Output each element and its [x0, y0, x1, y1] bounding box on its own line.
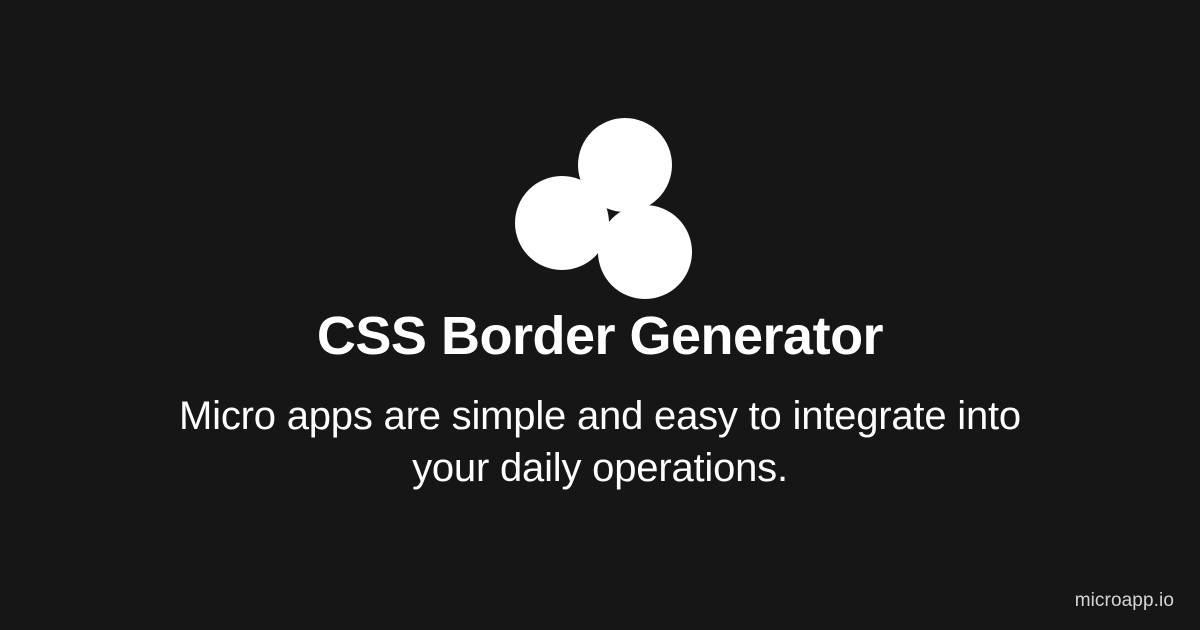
subtitle-line-2: your daily operations.	[90, 442, 1110, 494]
subtitle-line-1: Micro apps are simple and easy to integr…	[90, 390, 1110, 442]
logo-circle-bottom	[598, 205, 692, 299]
trefoil-logo-icon	[0, 0, 1200, 330]
og-card: CSS Border Generator Micro apps are simp…	[0, 0, 1200, 630]
page-title: CSS Border Generator	[0, 305, 1200, 369]
page-subtitle: Micro apps are simple and easy to integr…	[0, 390, 1200, 494]
footer-brand: microapp.io	[1075, 591, 1174, 610]
logo	[0, 0, 1200, 330]
logo-circle-top	[578, 118, 672, 212]
logo-circle-left	[515, 176, 609, 270]
